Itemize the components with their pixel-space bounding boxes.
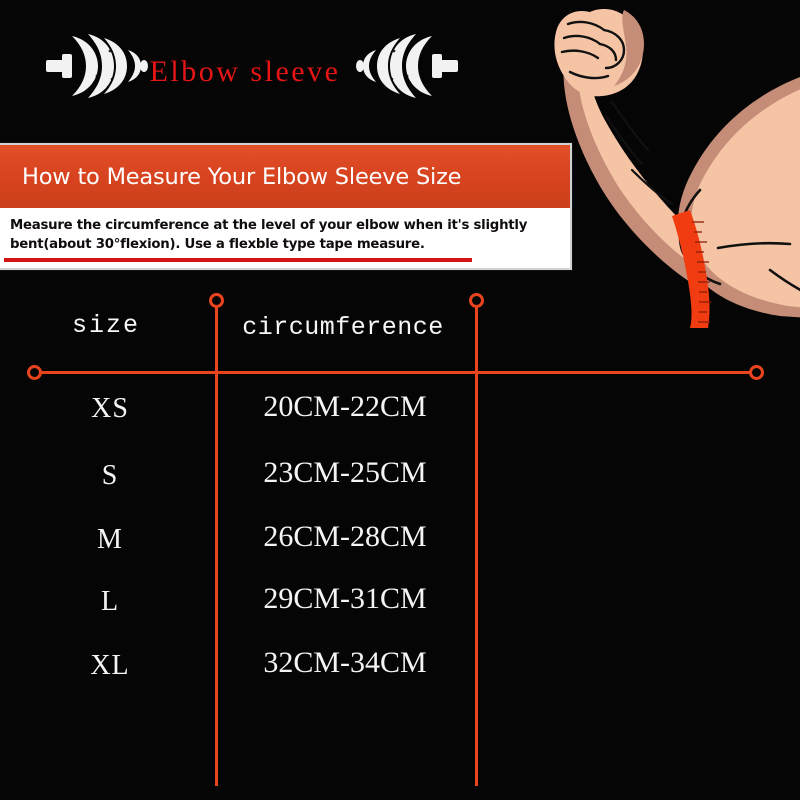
header-divider-right-marker — [749, 365, 764, 380]
banner-instructions: Measure the circumference at the level o… — [10, 216, 560, 254]
cell-circumference: 23CM-25CM — [220, 456, 470, 490]
column-header-size: size — [0, 311, 212, 340]
page-title: Elbow sleeve — [130, 57, 360, 87]
banner-heading: How to Measure Your Elbow Sleeve Size — [22, 164, 461, 190]
column-divider-2-marker — [469, 293, 484, 308]
cell-size: L — [20, 586, 200, 618]
column-divider-1-marker — [209, 293, 224, 308]
cell-size: S — [20, 460, 200, 492]
cell-size: M — [20, 524, 200, 556]
table-header-divider — [34, 371, 758, 374]
banner-header: How to Measure Your Elbow Sleeve Size — [0, 145, 570, 208]
cell-circumference: 20CM-22CM — [220, 390, 470, 424]
cell-circumference: 29CM-31CM — [220, 582, 470, 616]
how-to-measure-banner: How to Measure Your Elbow Sleeve Size Me… — [0, 143, 572, 270]
cell-size: XS — [20, 393, 200, 425]
cell-size: XL — [20, 650, 200, 682]
cell-circumference: 26CM-28CM — [220, 520, 470, 554]
title-row: Elbow sleeve — [0, 24, 520, 120]
banner-underline — [4, 258, 472, 262]
size-chart-graphic: Elbow sleeve — [0, 0, 800, 800]
column-header-circumference: circumference — [218, 313, 468, 342]
banner-body: Measure the circumference at the level o… — [0, 208, 570, 268]
dumbbell-icon — [352, 24, 462, 109]
header-divider-left-marker — [27, 365, 42, 380]
cell-circumference: 32CM-34CM — [220, 646, 470, 680]
